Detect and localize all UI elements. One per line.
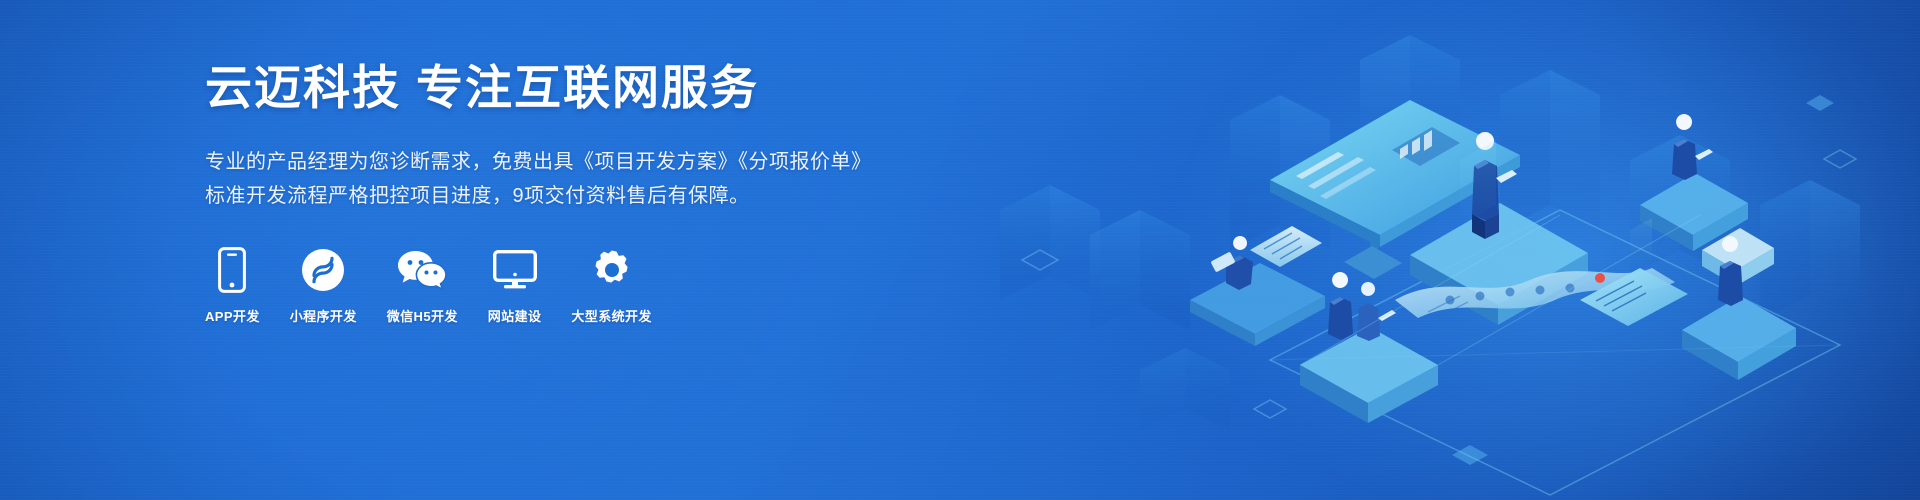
service-icon-row: APP开发 小程序开发 <box>205 247 965 325</box>
subtitle-line-1: 专业的产品经理为您诊断需求，免费出具《项目开发方案》《分项报价单》 <box>205 145 965 179</box>
subtitle-line-2: 标准开发流程严格把控项目进度，9项交付资料售后有保障。 <box>205 179 965 213</box>
person-front-left-b <box>1357 282 1396 341</box>
service-label-website: 网站建设 <box>488 306 542 325</box>
monitor-icon <box>493 247 537 293</box>
mini-program-icon <box>301 247 345 293</box>
page-title: 云迈科技 专注互联网服务 <box>205 62 965 115</box>
service-label-system: 大型系统开发 <box>571 306 651 325</box>
hero-banner: 云迈科技 专注互联网服务 专业的产品经理为您诊断需求，免费出具《项目开发方案》《… <box>0 0 1920 500</box>
pedestal-left <box>1190 263 1325 346</box>
isometric-illustration <box>940 0 1920 500</box>
service-label-app: APP开发 <box>205 306 260 325</box>
mobile-phone-icon <box>218 247 246 293</box>
service-item-app[interactable]: APP开发 <box>205 247 260 325</box>
service-item-website[interactable]: 网站建设 <box>488 247 542 325</box>
pedestal-front-left <box>1300 327 1438 423</box>
person-front-left-a <box>1328 272 1353 340</box>
service-label-miniprogram: 小程序开发 <box>290 306 357 325</box>
service-item-miniprogram[interactable]: 小程序开发 <box>290 247 357 325</box>
wechat-icon <box>397 247 447 293</box>
gear-icon <box>591 247 633 293</box>
service-item-system[interactable]: 大型系统开发 <box>571 247 651 325</box>
banner-subtitle: 专业的产品经理为您诊断需求，免费出具《项目开发方案》《分项报价单》 标准开发流程… <box>205 145 965 214</box>
service-item-wechat[interactable]: 微信H5开发 <box>387 247 458 325</box>
service-label-wechat: 微信H5开发 <box>387 306 458 325</box>
banner-content: 云迈科技 专注互联网服务 专业的产品经理为您诊断需求，免费出具《项目开发方案》《… <box>205 62 965 325</box>
